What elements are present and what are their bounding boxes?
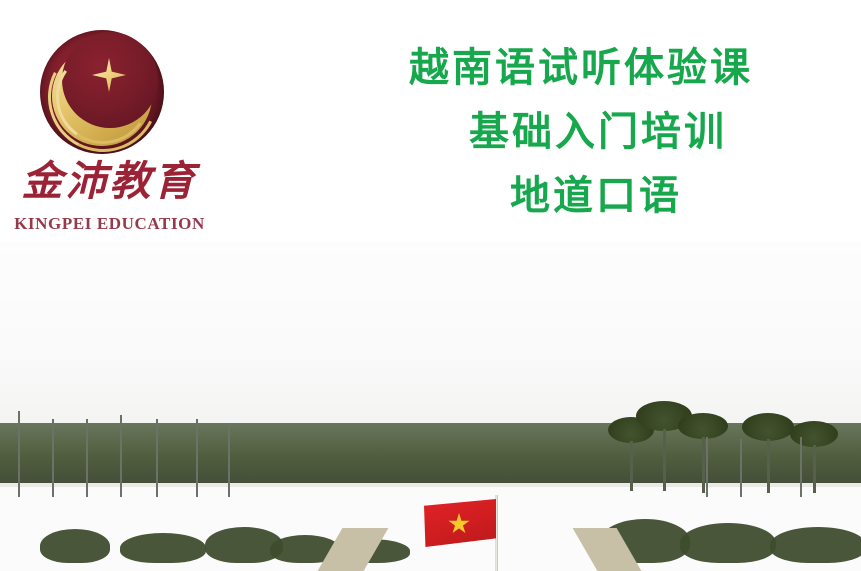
palm-trunk <box>630 441 633 491</box>
flag-pole-small <box>86 419 88 497</box>
brand-name-zh: 金沛教育 <box>12 158 207 204</box>
headline-line-1: 越南语试听体验课 <box>395 36 835 100</box>
palm-crown <box>742 413 794 441</box>
flag-pole-small <box>120 415 122 497</box>
hero-photo: HO CHI MINH J NGHĨA VIỆT NAM MUÔN NĂM ! <box>0 241 861 571</box>
header-band: 金沛教育 KINGPEI EDUCATION 越南语试听体验课 基础入门培训 地… <box>0 0 861 241</box>
flag-pole-small <box>18 411 20 497</box>
palm-trunk <box>663 429 666 491</box>
headline-line-3: 地道口语 <box>395 164 835 228</box>
tree-cluster <box>120 533 206 563</box>
crescent-star-emblem-icon <box>40 30 164 154</box>
flag-pole-small <box>156 419 158 497</box>
tree-cluster <box>680 523 776 563</box>
flag-pole-small <box>800 437 802 497</box>
flag-pole-small <box>706 437 708 497</box>
palm-trunk <box>702 437 705 493</box>
flag-pole-small <box>228 423 230 497</box>
palm-trunk <box>813 445 816 493</box>
palm-crown <box>790 421 838 447</box>
flag-pole-small <box>196 419 198 497</box>
tree-cluster <box>770 527 861 563</box>
flag-pole-small <box>740 439 742 497</box>
poster-root: 金沛教育 KINGPEI EDUCATION 越南语试听体验课 基础入门培训 地… <box>0 0 861 571</box>
brand-logo-block[interactable]: 金沛教育 KINGPEI EDUCATION <box>12 30 207 235</box>
treeline <box>0 423 861 483</box>
palm-crown <box>678 413 728 439</box>
flag-pole-small <box>52 419 54 497</box>
headline-line-2: 基础入门培训 <box>395 100 835 164</box>
brand-name-en: KINGPEI EDUCATION <box>12 214 207 234</box>
headline-group: 越南语试听体验课 基础入门培训 地道口语 <box>395 36 835 228</box>
tree-cluster <box>40 529 110 563</box>
palm-trunk <box>767 439 770 493</box>
